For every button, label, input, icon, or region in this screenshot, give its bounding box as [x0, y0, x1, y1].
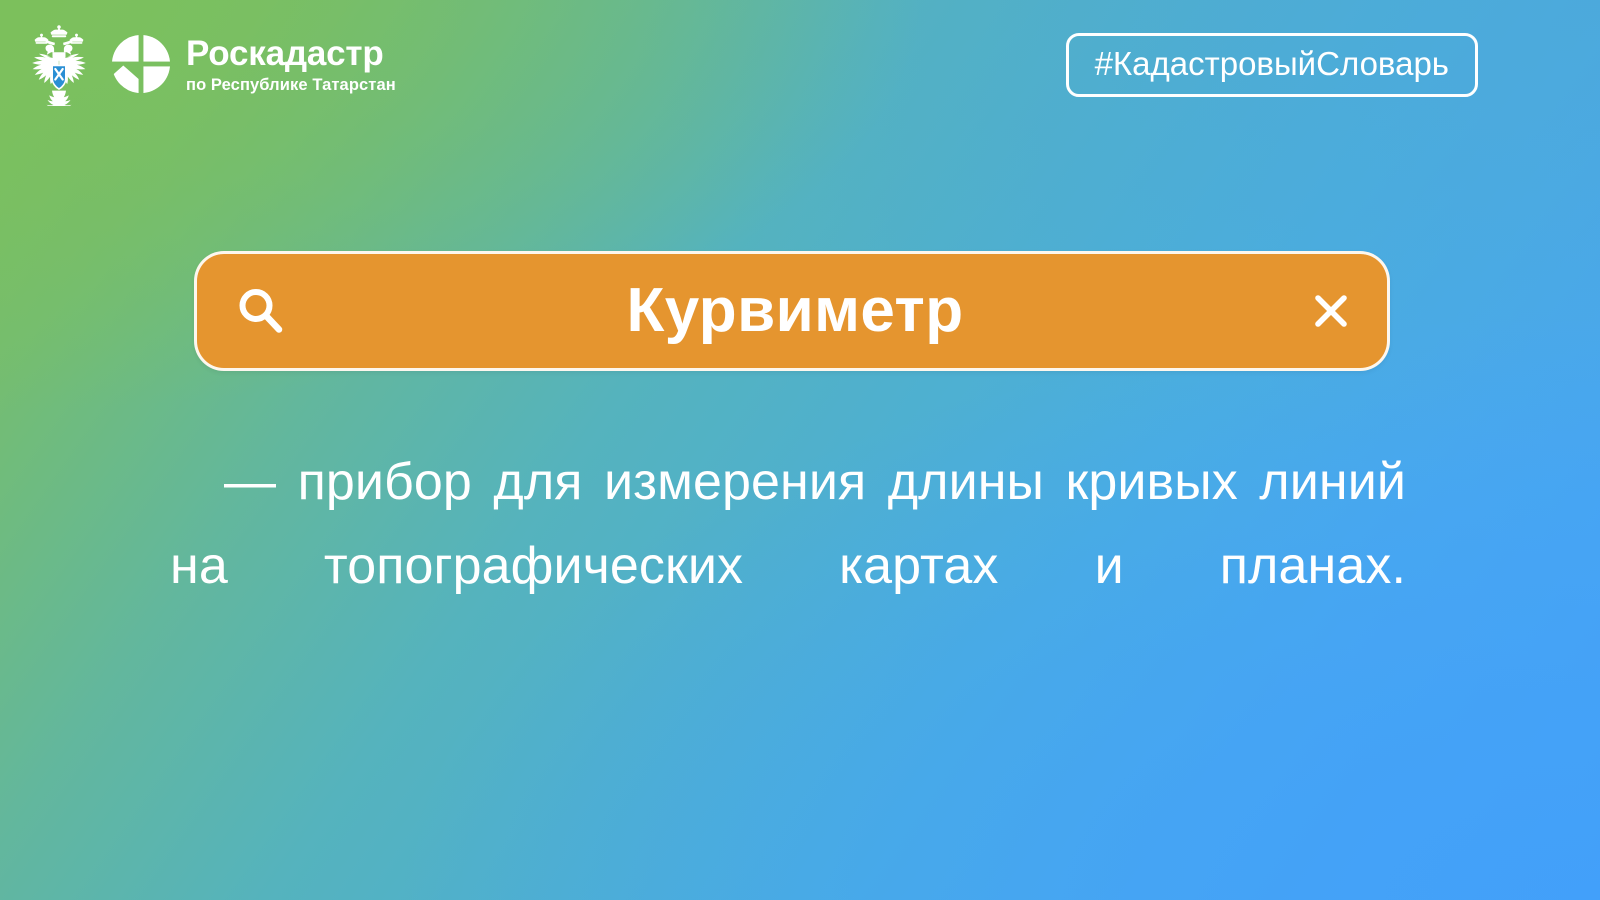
close-icon[interactable]: [1309, 289, 1353, 333]
slide-content: Роскадастр по Республике Татарстан #Када…: [0, 0, 1600, 900]
search-icon[interactable]: [235, 285, 287, 337]
roskadastr-circle-house-logo: [110, 33, 172, 95]
brand-subtitle: по Республике Татарстан: [186, 76, 396, 96]
search-term[interactable]: Курвиметр: [287, 280, 1309, 342]
brand-title: Роскадастр: [186, 36, 396, 72]
search-bar[interactable]: Курвиметр: [194, 251, 1390, 371]
definition-text: — прибор для измерения длины кривых лини…: [170, 440, 1406, 693]
brand-text: Роскадастр по Республике Татарстан: [186, 32, 396, 95]
header: Роскадастр по Республике Татарстан #Када…: [0, 0, 1600, 130]
brand-lockup: Роскадастр по Республике Татарстан: [0, 0, 396, 106]
double-headed-eagle-emblem: [22, 22, 96, 106]
hashtag-badge[interactable]: #КадастровыйСловарь: [1066, 33, 1478, 97]
